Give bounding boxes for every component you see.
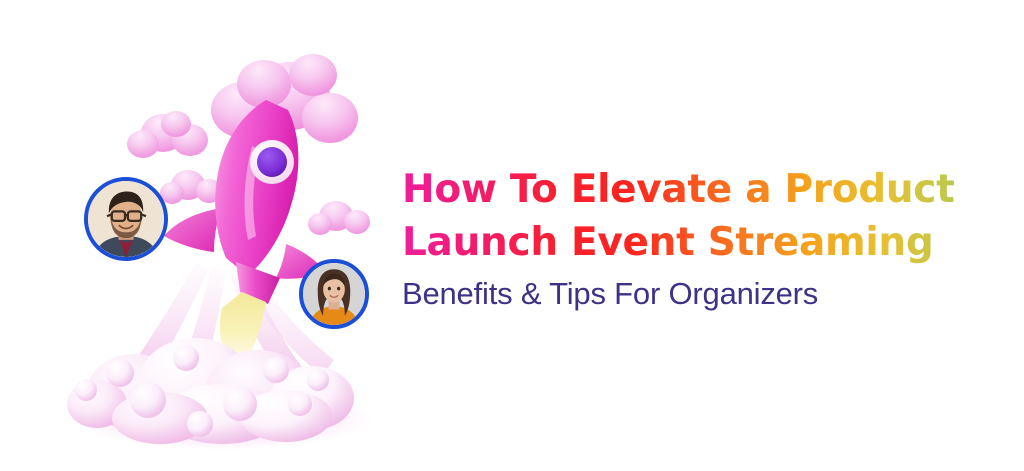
cloud-mid-small-left [160, 170, 222, 204]
headline-line-1: How To Elevate a Product [402, 163, 1002, 216]
headline-line-2: Launch Event Streaming [402, 216, 1002, 269]
page-title: How To Elevate a Product Launch Event St… [402, 163, 1002, 269]
avatar-man-with-glasses [84, 177, 168, 261]
rocket-launch-illustration [0, 0, 400, 471]
headline-block: How To Elevate a Product Launch Event St… [402, 163, 1002, 313]
page-subtitle: Benefits & Tips For Organizers [402, 275, 1002, 313]
cloud-top-small-left [127, 111, 208, 158]
rocket-porthole [257, 147, 287, 177]
cloud-mid-small-right [308, 201, 370, 235]
avatar-woman-orange-top [299, 259, 369, 329]
hero-banner: How To Elevate a Product Launch Event St… [0, 0, 1024, 471]
rocket-fin-left [164, 208, 222, 252]
